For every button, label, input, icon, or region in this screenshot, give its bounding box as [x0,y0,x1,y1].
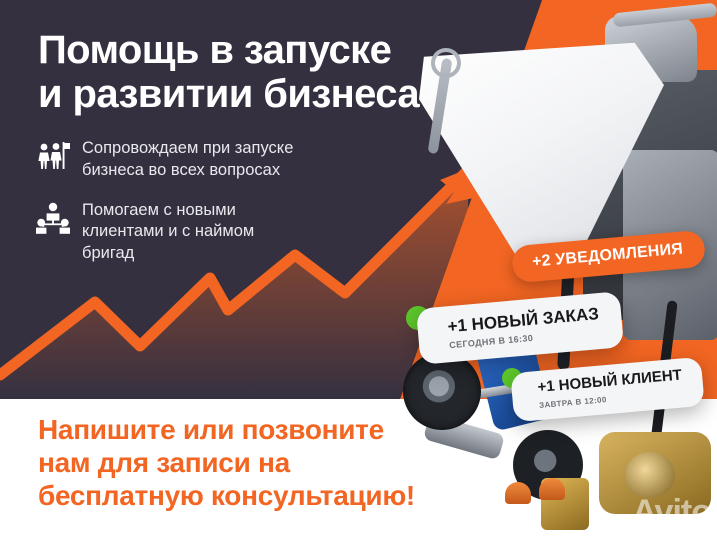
cta-line-1: Напишите или позвоните [38,414,468,447]
feature-item-clients: Помогаем с новыми клиентами и с наймом б… [36,200,366,265]
feature-line-2: бизнеса во всех вопросах [82,160,293,182]
two-people-flag-icon [36,138,82,174]
call-to-action-text: Напишите или позвоните нам для записи на… [38,414,468,512]
machine-orange-cap-1 [505,482,531,504]
cta-line-3: бесплатную консультацию! [38,480,468,513]
feature-list: Сопровождаем при запуске бизнеса во всех… [36,138,366,283]
advertisement-banner: Помощь в запуске и развитии бизнеса [0,0,717,540]
cta-line-2: нам для записи на [38,447,468,480]
machine-hopper-ring [431,48,461,78]
feature-text-clients: Помогаем с новыми клиентами и с наймом б… [82,200,254,265]
feature-line-1: Сопровождаем при запуске [82,138,293,160]
feature-text-support: Сопровождаем при запуске бизнеса во всех… [82,138,293,182]
avito-watermark: Avito [632,493,711,532]
feature-line-3: бригад [82,243,254,265]
machine-pump-core [625,452,675,498]
feature-line-1: Помогаем с новыми [82,200,254,222]
feature-line-2: клиентами и с наймом [82,221,254,243]
machine-orange-cap-2 [539,478,565,500]
feature-item-support: Сопровождаем при запуске бизнеса во всех… [36,138,366,182]
team-group-icon [36,200,82,234]
